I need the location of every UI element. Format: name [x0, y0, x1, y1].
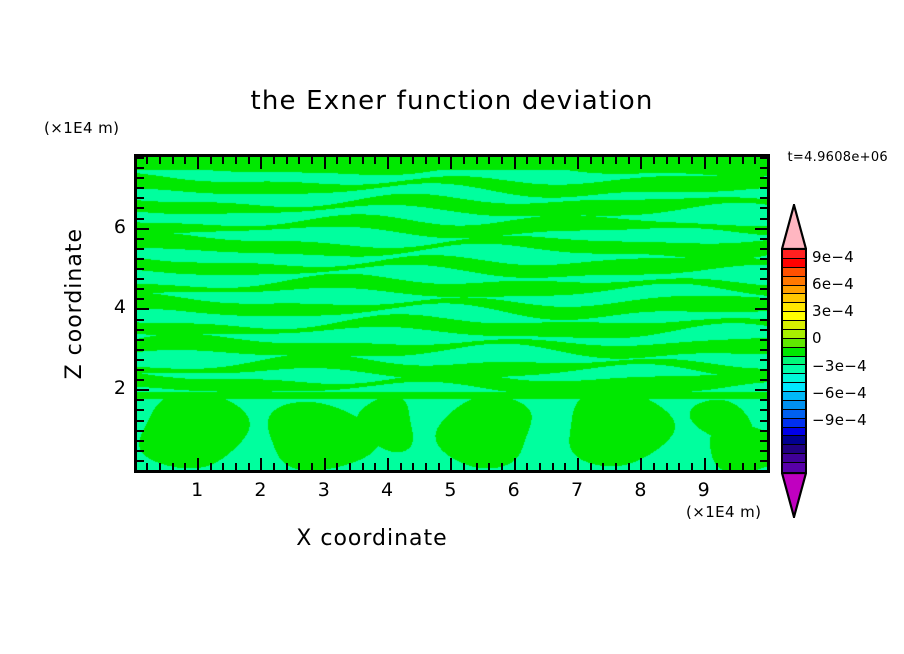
y-axis-tick — [137, 258, 144, 260]
x-axis-tick-top — [172, 157, 174, 164]
x-axis-tick-top — [146, 157, 148, 164]
x-axis-tick-top — [526, 157, 528, 164]
x-axis-tick-top — [653, 157, 655, 164]
y-axis-tick — [137, 268, 144, 270]
x-axis-tick — [362, 463, 364, 470]
x-axis-tick — [678, 463, 680, 470]
y-axis-tick — [137, 369, 144, 371]
x-axis-tick-top — [729, 157, 731, 164]
x-axis-tick-top — [260, 157, 262, 169]
y-axis-tick — [137, 218, 144, 220]
x-axis-tick-top — [514, 157, 516, 169]
x-axis-tick — [324, 458, 326, 470]
x-axis-tick — [602, 463, 604, 470]
y-axis-tick-right — [760, 349, 767, 351]
colorbar-band — [783, 445, 805, 454]
colorbar-tick-label: 6e−4 — [812, 275, 854, 293]
x-axis-tick — [552, 463, 554, 470]
y-axis-tick — [137, 470, 144, 472]
y-axis-tick-right — [760, 157, 767, 159]
colorbar-tick-label: −9e−4 — [812, 411, 867, 429]
x-axis-tick-top — [159, 157, 161, 164]
x-axis-tick-top — [349, 157, 351, 164]
x-tick-label: 4 — [367, 479, 407, 501]
colorbar-band — [783, 250, 805, 259]
y-axis-tick-right — [760, 298, 767, 300]
y-axis-tick — [137, 187, 144, 189]
x-axis-tick-top — [640, 157, 642, 169]
x-axis-tick — [260, 458, 262, 470]
y-axis-tick-right — [760, 248, 767, 250]
y-axis-tick — [137, 460, 144, 462]
x-axis-tick-top — [666, 157, 668, 164]
x-axis-tick-top — [716, 157, 718, 164]
x-axis-tick-top — [298, 157, 300, 164]
colorbar-under-arrow-icon — [781, 472, 807, 518]
x-axis-tick — [235, 463, 237, 470]
x-axis-tick — [590, 463, 592, 470]
x-axis-tick — [691, 463, 693, 470]
x-axis-tick — [172, 463, 174, 470]
x-axis-tick-top — [602, 157, 604, 164]
colorbar-band — [783, 410, 805, 419]
y-axis-tick — [137, 157, 144, 159]
x-axis-tick — [184, 463, 186, 470]
y-axis-tick — [137, 319, 144, 321]
x-axis-tick — [526, 463, 528, 470]
colorbar-bands — [781, 248, 807, 474]
page-title: the Exner function deviation — [0, 86, 904, 116]
x-axis-tick — [754, 463, 756, 470]
y-axis-tick — [137, 167, 144, 169]
y-axis-tick-right — [760, 359, 767, 361]
y-tick-label: 4 — [86, 296, 126, 318]
y-axis-tick-right — [760, 238, 767, 240]
x-axis-tick-top — [374, 157, 376, 164]
y-axis-tick-right — [755, 308, 767, 310]
y-axis-tick-right — [760, 207, 767, 209]
y-axis-tick-right — [760, 258, 767, 260]
colorbar-band — [783, 365, 805, 374]
x-axis-tick — [286, 463, 288, 470]
x-axis-tick — [514, 458, 516, 470]
x-axis-tick — [222, 463, 224, 470]
x-axis-tick-top — [387, 157, 389, 169]
x-axis-tick — [767, 463, 769, 470]
x-axis-tick — [400, 463, 402, 470]
y-axis-tick — [137, 278, 144, 280]
x-axis-tick-top — [539, 157, 541, 164]
x-axis-tick-top — [450, 157, 452, 169]
x-axis-tick-top — [222, 157, 224, 164]
colorbar-band — [783, 419, 805, 428]
x-axis-tick-top — [235, 157, 237, 164]
x-axis-tick-top — [248, 157, 250, 164]
x-axis-tick-top — [767, 157, 769, 164]
y-axis-tick-right — [760, 430, 767, 432]
y-axis-tick-right — [760, 399, 767, 401]
y-axis-tick — [137, 409, 144, 411]
x-tick-label: 2 — [240, 479, 280, 501]
x-axis-unit-label: (×1E4 m) — [686, 503, 761, 521]
x-axis-tick — [653, 463, 655, 470]
x-axis-tick-top — [691, 157, 693, 164]
y-axis-tick-right — [760, 268, 767, 270]
x-axis-tick-top — [754, 157, 756, 164]
colorbar-band — [783, 357, 805, 366]
colorbar-band — [783, 463, 805, 472]
x-axis-tick-top — [412, 157, 414, 164]
y-axis-tick — [137, 308, 149, 310]
colorbar-band — [783, 294, 805, 303]
y-axis-title: Z coordinate — [62, 77, 87, 228]
x-axis-tick — [349, 463, 351, 470]
x-axis-tick — [488, 463, 490, 470]
colorbar-band — [783, 268, 805, 277]
x-axis-tick-top — [463, 157, 465, 164]
colorbar-band — [783, 303, 805, 312]
x-axis-tick — [640, 458, 642, 470]
colorbar-tick-label: 9e−4 — [812, 248, 854, 266]
y-axis-tick — [137, 359, 144, 361]
x-axis-tick — [248, 463, 250, 470]
y-axis-tick — [137, 248, 144, 250]
x-axis-tick-top — [628, 157, 630, 164]
timestamp-annotation: t=4.9608e+06 — [787, 150, 888, 165]
y-axis-tick-right — [760, 187, 767, 189]
y-axis-tick — [137, 339, 144, 341]
y-axis-tick-right — [760, 339, 767, 341]
x-axis-title-text: X coordinate — [296, 526, 447, 551]
colorbar-band — [783, 330, 805, 339]
colorbar-band — [783, 436, 805, 445]
y-axis-tick — [137, 440, 144, 442]
y-tick-label: 6 — [86, 216, 126, 238]
x-axis-tick — [374, 463, 376, 470]
x-axis-tick — [476, 463, 478, 470]
x-axis-tick — [716, 463, 718, 470]
colorbar-over-arrow-icon — [781, 204, 807, 250]
x-axis-tick-top — [501, 157, 503, 164]
x-axis-tick-top — [564, 157, 566, 164]
y-axis-tick — [137, 298, 144, 300]
x-axis-tick-top — [438, 157, 440, 164]
x-axis-tick-top — [552, 157, 554, 164]
x-axis-tick — [273, 463, 275, 470]
x-axis-tick-top — [336, 157, 338, 164]
x-tick-label: 3 — [304, 479, 344, 501]
x-axis-tick-top — [324, 157, 326, 169]
y-axis-tick — [137, 228, 149, 230]
y-axis-tick — [137, 238, 144, 240]
x-axis-tick — [577, 458, 579, 470]
x-axis-tick — [564, 463, 566, 470]
x-axis-tick — [425, 463, 427, 470]
x-axis-tick — [450, 458, 452, 470]
x-axis-tick-top — [590, 157, 592, 164]
x-tick-label: 5 — [430, 479, 470, 501]
x-axis-tick-top — [197, 157, 199, 169]
contour-field-canvas — [137, 157, 767, 470]
x-axis-tick — [463, 463, 465, 470]
y-axis-tick — [137, 197, 144, 199]
x-axis-tick-top — [311, 157, 313, 164]
x-axis-tick — [501, 463, 503, 470]
y-axis-tick-right — [755, 228, 767, 230]
x-axis-tick — [159, 463, 161, 470]
y-axis-tick-right — [760, 450, 767, 452]
x-axis-tick — [438, 463, 440, 470]
x-axis-tick — [298, 463, 300, 470]
y-axis-tick — [137, 399, 144, 401]
x-axis-title: X coordinate — [0, 526, 904, 551]
colorbar[interactable] — [781, 204, 807, 518]
x-axis-tick-top — [362, 157, 364, 164]
y-axis-tick-right — [760, 470, 767, 472]
x-axis-tick — [704, 458, 706, 470]
x-axis-tick-top — [742, 157, 744, 164]
y-axis-tick-right — [760, 460, 767, 462]
x-tick-label: 1 — [177, 479, 217, 501]
y-axis-tick-right — [760, 177, 767, 179]
x-axis-tick-top — [704, 157, 706, 169]
colorbar-band — [783, 339, 805, 348]
y-axis-tick-right — [760, 379, 767, 381]
y-axis-tick-right — [760, 409, 767, 411]
colorbar-tick-label: 0 — [812, 329, 822, 347]
colorbar-band — [783, 454, 805, 463]
x-axis-tick-top — [273, 157, 275, 164]
x-axis-tick — [628, 463, 630, 470]
x-axis-tick — [615, 463, 617, 470]
x-tick-label: 8 — [620, 479, 660, 501]
colorbar-band — [783, 259, 805, 268]
colorbar-band — [783, 374, 805, 383]
colorbar-tick-label: −3e−4 — [812, 357, 867, 375]
colorbar-band — [783, 383, 805, 392]
x-tick-label: 7 — [557, 479, 597, 501]
x-tick-label: 9 — [684, 479, 724, 501]
y-axis-tick-right — [760, 440, 767, 442]
x-axis-tick — [742, 463, 744, 470]
colorbar-band — [783, 392, 805, 401]
y-axis-tick — [137, 450, 144, 452]
x-axis-tick — [197, 458, 199, 470]
y-axis-tick-right — [760, 278, 767, 280]
colorbar-band — [783, 312, 805, 321]
x-axis-tick — [336, 463, 338, 470]
colorbar-band — [783, 277, 805, 286]
x-axis-tick — [666, 463, 668, 470]
y-axis-tick-right — [760, 319, 767, 321]
x-axis-tick-top — [488, 157, 490, 164]
colorbar-band — [783, 321, 805, 330]
y-axis-tick — [137, 207, 144, 209]
y-axis-tick-right — [755, 389, 767, 391]
x-axis-tick-top — [615, 157, 617, 164]
y-axis-tick — [137, 329, 144, 331]
y-axis-tick — [137, 379, 144, 381]
colorbar-band — [783, 401, 805, 410]
y-axis-tick-right — [760, 288, 767, 290]
x-axis-tick — [412, 463, 414, 470]
y-tick-label: 2 — [86, 377, 126, 399]
colorbar-band — [783, 286, 805, 295]
x-axis-tick — [146, 463, 148, 470]
y-axis-tick — [137, 420, 144, 422]
y-axis-tick — [137, 177, 144, 179]
contour-plot-area[interactable] — [134, 154, 770, 473]
x-axis-tick — [729, 463, 731, 470]
x-axis-tick — [539, 463, 541, 470]
y-axis-tick-right — [760, 420, 767, 422]
colorbar-band — [783, 428, 805, 437]
x-axis-tick-top — [425, 157, 427, 164]
y-axis-tick — [137, 349, 144, 351]
colorbar-tick-label: −6e−4 — [812, 384, 867, 402]
x-axis-tick — [387, 458, 389, 470]
y-axis-tick — [137, 430, 144, 432]
x-axis-tick-top — [184, 157, 186, 164]
x-axis-tick — [311, 463, 313, 470]
x-tick-label: 6 — [494, 479, 534, 501]
colorbar-tick-label: 3e−4 — [812, 302, 854, 320]
x-axis-tick-top — [210, 157, 212, 164]
x-axis-tick-top — [476, 157, 478, 164]
x-axis-tick — [210, 463, 212, 470]
y-axis-title-text: Z coordinate — [62, 228, 87, 379]
y-axis-tick-right — [760, 167, 767, 169]
y-axis-tick — [137, 288, 144, 290]
x-axis-tick-top — [577, 157, 579, 169]
y-axis-tick-right — [760, 197, 767, 199]
y-axis-tick-right — [760, 329, 767, 331]
x-axis-tick-top — [678, 157, 680, 164]
x-axis-tick-top — [286, 157, 288, 164]
y-axis-tick-right — [760, 369, 767, 371]
colorbar-band — [783, 348, 805, 357]
y-axis-tick-right — [760, 218, 767, 220]
x-axis-tick-top — [400, 157, 402, 164]
y-axis-tick — [137, 389, 149, 391]
